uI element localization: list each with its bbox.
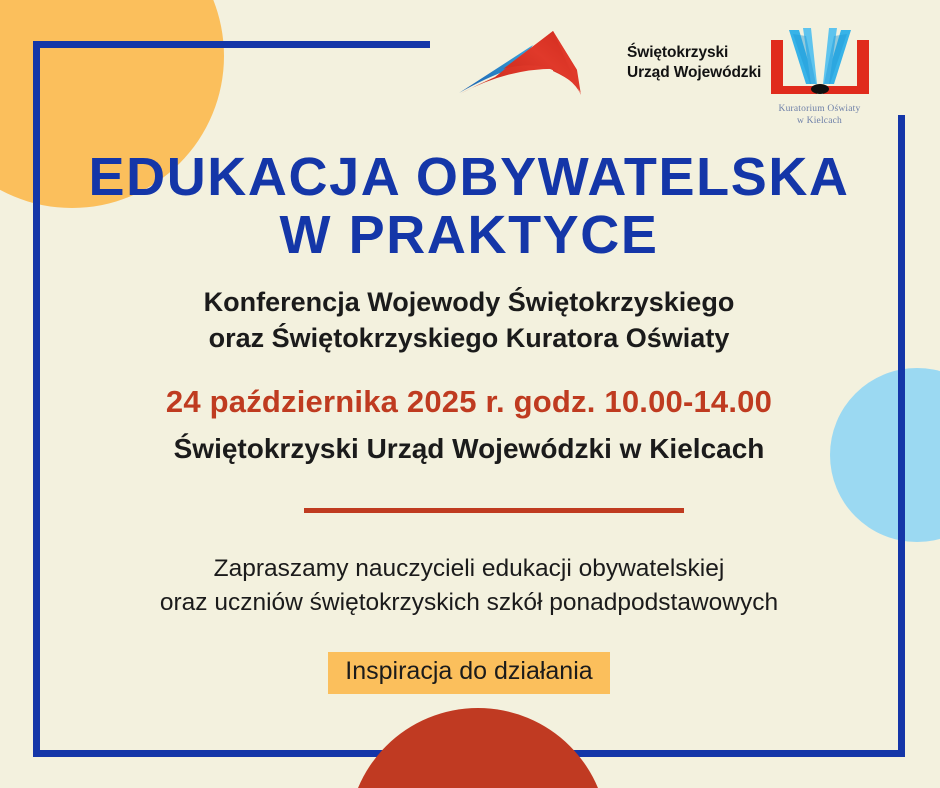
event-date-time: 24 października 2025 r. godz. 10.00-14.0…	[40, 384, 898, 420]
logo-swietokrzyski-urzad-wojewodzki: Świętokrzyski Urząd Wojewódzki	[455, 27, 761, 99]
poster-canvas: Świętokrzyski Urząd Wojewódzki Kuratoriu…	[0, 0, 940, 788]
frame-right-line	[898, 115, 905, 757]
logo-kuratorium-label: Kuratorium Oświaty w Kielcach	[757, 103, 882, 128]
tagline-container: Inspiracja do działania	[40, 652, 898, 694]
invitation-text: Zapraszamy nauczycieli edukacji obywatel…	[40, 552, 898, 620]
page-title: EDUKACJA OBYWATELSKA W PRAKTYCE	[40, 148, 898, 265]
horizontal-divider-rule	[304, 508, 684, 513]
decorative-red-semicircle	[348, 708, 608, 788]
frame-left-line	[33, 41, 40, 757]
logo-wojewodzki-label: Świętokrzyski Urząd Wojewódzki	[627, 43, 761, 84]
frame-top-line	[33, 41, 430, 48]
open-book-logo-icon	[757, 24, 882, 102]
tagline-badge: Inspiracja do działania	[328, 652, 609, 694]
swietokrzyskie-mountains-logo-icon	[455, 27, 615, 99]
poster-subtitle: Konferencja Wojewody Świętokrzyskiego or…	[40, 285, 898, 356]
logo-kuratorium-oswiaty: Kuratorium Oświaty w Kielcach	[757, 24, 882, 128]
event-venue: Świętokrzyski Urząd Wojewódzki w Kielcac…	[40, 433, 898, 465]
